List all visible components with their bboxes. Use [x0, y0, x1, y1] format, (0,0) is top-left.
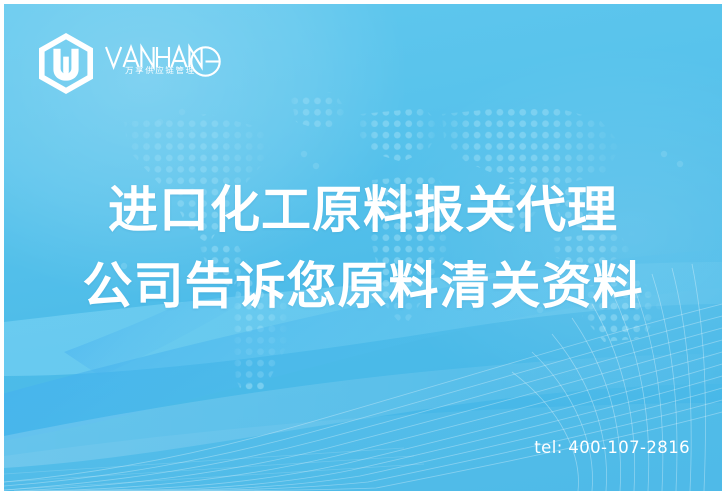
vanhang-wordmark — [104, 40, 222, 86]
contact-phone[interactable]: tel: 400-107-2816 — [534, 438, 690, 457]
vanhang-hexagon-u-icon — [37, 32, 95, 94]
logo-typography: 万享供应链管理 — [104, 40, 222, 86]
brand-logo[interactable]: 万享供应链管理 — [37, 32, 222, 94]
headline-line-2: 公司告诉您原料清关资料 — [4, 248, 722, 324]
banner-canvas: 万享供应链管理 进口化工原料报关代理 公司告诉您原料清关资料 tel: 400-… — [4, 4, 722, 491]
headline: 进口化工原料报关代理 公司告诉您原料清关资料 — [4, 172, 722, 324]
headline-line-1: 进口化工原料报关代理 — [4, 172, 722, 248]
promo-banner: 万享供应链管理 进口化工原料报关代理 公司告诉您原料清关资料 tel: 400-… — [0, 0, 726, 495]
logo-subtitle: 万享供应链管理 — [125, 67, 196, 75]
